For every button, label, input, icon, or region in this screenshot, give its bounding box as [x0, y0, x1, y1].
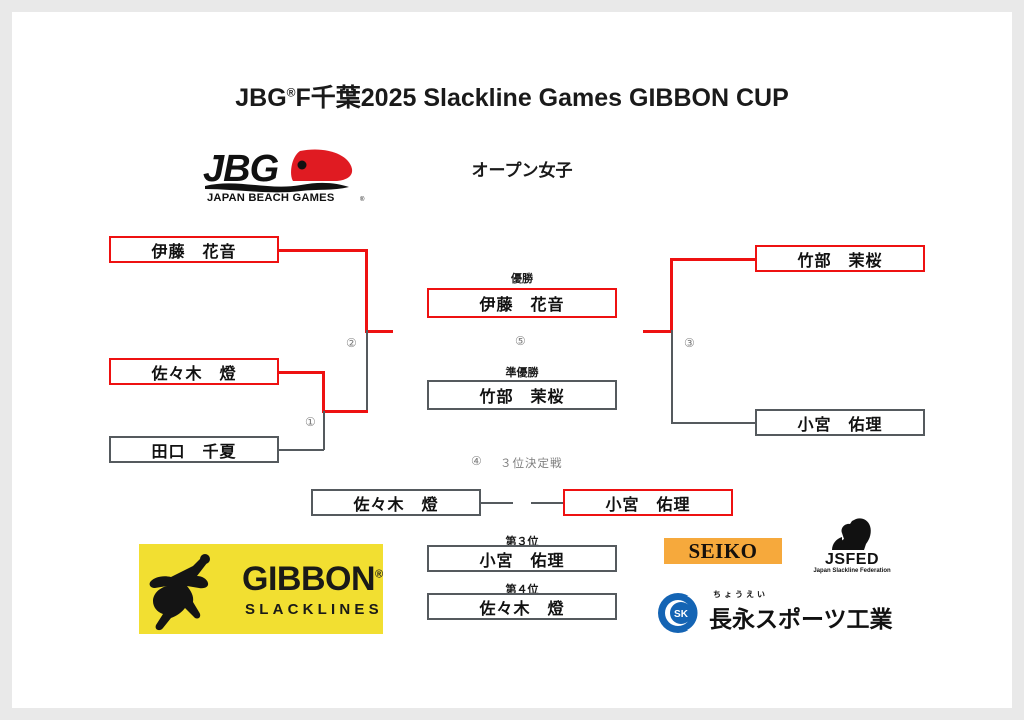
page-title-rest: F千葉2025 Slackline Games GIBBON CUP — [296, 84, 789, 112]
third-place-match-left-box[interactable]: 佐々木 燈 — [311, 489, 481, 516]
connector-left-quarter-vertical-red — [322, 371, 325, 412]
gibbon-registered-icon: ® — [375, 569, 383, 581]
svg-text:JAPAN BEACH GAMES: JAPAN BEACH GAMES — [207, 192, 335, 203]
left-seed-1-box[interactable]: 伊藤 花音 — [109, 236, 279, 263]
connector-left-seed1-horizontal — [279, 249, 366, 252]
connector-third-place-right — [531, 502, 563, 504]
left-seed-3-box[interactable]: 田口 千夏 — [109, 436, 279, 463]
third-place-match-right-box[interactable]: 小宮 佑理 — [563, 489, 733, 516]
right-seed-2-box[interactable]: 小宮 佑理 — [755, 409, 925, 436]
jsfed-subtitle: Japan Slackline Federation — [812, 568, 892, 574]
gibbon-slackliner-icon — [141, 546, 241, 634]
registered-trademark-icon: ® — [287, 86, 296, 100]
connector-left-semifinal-vertical-grey — [366, 330, 368, 412]
left-seed-3-name: 田口 千夏 — [151, 438, 236, 462]
connector-right-semifinal-vertical-grey — [671, 330, 673, 423]
screenshot-canvas: JBG®F千葉2025 Slackline Games GIBBON CUP J… — [0, 0, 1024, 720]
left-seed-1-name: 伊藤 花音 — [151, 238, 236, 262]
category-label: オープン女子 — [412, 156, 632, 181]
runnerup-box[interactable]: 竹部 茉桜 — [427, 380, 617, 410]
connector-right-semifinal-out — [643, 330, 672, 333]
connector-left-seed3-horizontal — [279, 449, 324, 451]
fourth-standing-box[interactable]: 佐々木 燈 — [427, 593, 617, 620]
fourth-standing-name: 佐々木 燈 — [479, 595, 564, 619]
sponsor-logo-gibbon: GIBBON® SLACKLINES — [139, 544, 383, 634]
right-seed-2-name: 小宮 佑理 — [797, 411, 882, 435]
svg-text:JBG: JBG — [203, 148, 279, 190]
runnerup-caption: 準優勝 — [427, 364, 617, 380]
champion-box[interactable]: 伊藤 花音 — [427, 288, 617, 318]
right-seed-1-box[interactable]: 竹部 茉桜 — [755, 245, 925, 272]
connector-right-seed1-horizontal — [670, 258, 756, 261]
csk-mark-text: SK — [674, 609, 689, 620]
match-number-3: ③ — [684, 336, 695, 350]
sponsor-logo-seiko: SEIKO — [664, 538, 782, 564]
runnerup-name: 竹部 茉桜 — [479, 383, 564, 407]
champion-caption: 優勝 — [427, 270, 617, 286]
right-seed-1-name: 竹部 茉桜 — [797, 247, 882, 271]
third-place-match-label: ３位決定戦 — [500, 455, 563, 471]
svg-text:®: ® — [360, 196, 365, 203]
third-standing-box[interactable]: 小宮 佑理 — [427, 545, 617, 572]
connector-right-semifinal-vertical-red — [670, 258, 673, 332]
connector-left-quarter-vertical-grey — [323, 411, 325, 450]
chouei-wordmark: 長永スポーツ工業 — [709, 600, 893, 634]
third-place-match-left-name: 佐々木 燈 — [353, 491, 438, 515]
connector-left-quarter-out — [322, 410, 368, 413]
left-seed-2-box[interactable]: 佐々木 燈 — [109, 358, 279, 385]
jsfed-wordmark: JSFED — [812, 551, 892, 569]
gibbon-wordmark: GIBBON® — [242, 562, 383, 596]
third-standing-name: 小宮 佑理 — [479, 547, 564, 571]
seiko-wordmark: SEIKO — [688, 539, 757, 564]
connector-left-semifinal-out — [365, 330, 393, 333]
connector-left-semifinal-vertical-red — [365, 249, 368, 331]
tournament-bracket-page: JBG®F千葉2025 Slackline Games GIBBON CUP J… — [12, 12, 1012, 708]
match-number-2: ② — [346, 336, 357, 350]
match-number-5: ⑤ — [515, 334, 526, 348]
jbg-logo: JBG JAPAN BEACH GAMES ® — [197, 145, 377, 203]
jbg-logo-graphic: JBG JAPAN BEACH GAMES ® — [197, 145, 377, 203]
left-seed-2-name: 佐々木 燈 — [151, 360, 236, 384]
sponsor-logo-jsfed: JSFED Japan Slackline Federation — [812, 517, 892, 579]
gibbon-name: GIBBON — [242, 560, 375, 598]
page-title-main: JBG — [235, 84, 286, 112]
jsfed-slackliner-icon — [812, 517, 892, 551]
page-title: JBG®F千葉2025 Slackline Games GIBBON CUP — [12, 78, 1012, 114]
csk-circle-icon: SK — [657, 592, 699, 634]
sponsor-logo-chouei: SK ちょうえい 長永スポーツ工業 — [657, 590, 882, 634]
gibbon-subtitle: SLACKLINES — [245, 601, 383, 618]
chouei-furigana: ちょうえい — [713, 589, 768, 600]
champion-name: 伊藤 花音 — [479, 291, 564, 315]
connector-left-seed2-horizontal — [279, 371, 324, 374]
connector-third-place-left — [481, 502, 513, 504]
connector-right-seed2-horizontal — [671, 422, 756, 424]
third-place-match-right-name: 小宮 佑理 — [605, 491, 690, 515]
match-number-4: ④ — [471, 454, 482, 468]
match-number-1: ① — [305, 415, 316, 429]
